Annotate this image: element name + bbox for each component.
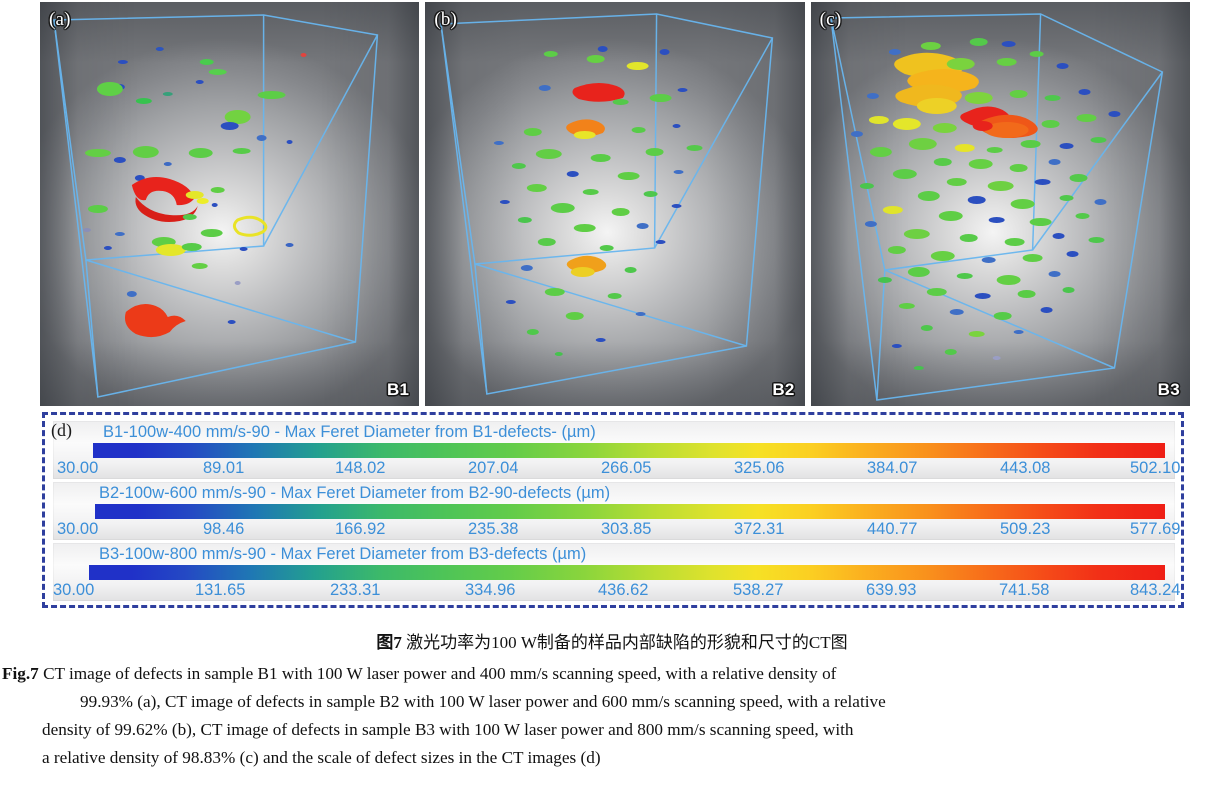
- tick-b1-1: 89.01: [203, 458, 244, 479]
- ct-panel-row: (a) B1: [40, 2, 1190, 406]
- tick-b1-8: 502.10: [1130, 458, 1180, 479]
- tick-b2-6: 440.77: [867, 519, 917, 540]
- caption-english-line-2: 99.93% (a), CT image of defects in sampl…: [2, 688, 1222, 716]
- tick-b1-5: 325.06: [734, 458, 784, 479]
- colour-scale-b2: B2-100w-600 mm/s-90 - Max Feret Diameter…: [53, 482, 1175, 540]
- tick-b3-0: 30.00: [53, 580, 94, 601]
- panel-label-c: (c): [820, 9, 842, 31]
- sample-label-b3: B3: [1158, 380, 1180, 400]
- caption-english-line-1: Fig.7 CT image of defects in sample B1 w…: [2, 660, 1222, 688]
- tick-b3-2: 233.31: [330, 580, 380, 601]
- colour-scale-b1: B1-100w-400 mm/s-90 - Max Feret Diameter…: [53, 421, 1175, 479]
- caption-english: Fig.7 CT image of defects in sample B1 w…: [2, 660, 1222, 772]
- panel-label-b: (b): [434, 9, 457, 31]
- figure-root: (a) B1: [0, 0, 1224, 790]
- tick-b3-6: 639.93: [866, 580, 916, 601]
- ct-panel-b1: (a) B1: [40, 2, 419, 406]
- tick-b3-7: 741.58: [999, 580, 1049, 601]
- colour-scale-b2-ticks: 30.00 98.46 166.92 235.38 303.85 372.31 …: [53, 519, 1175, 540]
- colour-scale-b1-title: B1-100w-400 mm/s-90 - Max Feret Diameter…: [103, 422, 596, 443]
- tick-b1-7: 443.08: [1000, 458, 1050, 479]
- colour-scale-b3-ticks: 30.00 131.65 233.31 334.96 436.62 538.27…: [53, 580, 1175, 601]
- tick-b3-8: 843.24: [1130, 580, 1180, 601]
- tick-b3-3: 334.96: [465, 580, 515, 601]
- tick-b2-7: 509.23: [1000, 519, 1050, 540]
- colour-scale-b1-ticks: 30.00 89.01 148.02 207.04 266.05 325.06 …: [53, 458, 1175, 479]
- colour-scale-legend: (d) B1-100w-400 mm/s-90 - Max Feret Diam…: [42, 412, 1184, 608]
- ct-panel-b3: (c) B3: [811, 2, 1190, 406]
- tick-b2-3: 235.38: [468, 519, 518, 540]
- ct-render-b1: [40, 2, 419, 406]
- ct-panel-b2: (b) B2: [425, 2, 804, 406]
- colour-scale-b2-bar: [95, 504, 1165, 519]
- tick-b1-2: 148.02: [335, 458, 385, 479]
- colour-scale-b3-bar: [89, 565, 1165, 580]
- panel-label-a: (a): [49, 9, 71, 31]
- caption-english-line-4: a relative density of 98.83% (c) and the…: [2, 744, 1222, 772]
- colour-scale-b1-bar: [93, 443, 1165, 458]
- tick-b1-3: 207.04: [468, 458, 518, 479]
- caption-english-label: Fig.7: [2, 664, 39, 683]
- caption-chinese-text: 激光功率为100 W制备的样品内部缺陷的形貌和尺寸的CT图: [402, 633, 848, 652]
- tick-b2-2: 166.92: [335, 519, 385, 540]
- tick-b3-4: 436.62: [598, 580, 648, 601]
- tick-b3-1: 131.65: [195, 580, 245, 601]
- caption-english-line-3: density of 99.62% (b), CT image of defec…: [2, 716, 1222, 744]
- caption-chinese-label: 图7: [376, 633, 402, 652]
- colour-scale-b3-title: B3-100w-800 mm/s-90 - Max Feret Diameter…: [99, 544, 586, 565]
- tick-b2-4: 303.85: [601, 519, 651, 540]
- tick-b1-0: 30.00: [57, 458, 98, 479]
- tick-b1-4: 266.05: [601, 458, 651, 479]
- sample-label-b1: B1: [387, 380, 409, 400]
- caption-english-line-1-text: CT image of defects in sample B1 with 10…: [39, 664, 837, 683]
- tick-b2-8: 577.69: [1130, 519, 1180, 540]
- colour-scale-b2-title: B2-100w-600 mm/s-90 - Max Feret Diameter…: [99, 483, 610, 504]
- colour-scale-b3: B3-100w-800 mm/s-90 - Max Feret Diameter…: [53, 543, 1175, 601]
- tick-b1-6: 384.07: [867, 458, 917, 479]
- tick-b2-0: 30.00: [57, 519, 98, 540]
- tick-b2-1: 98.46: [203, 519, 244, 540]
- tick-b2-5: 372.31: [734, 519, 784, 540]
- ct-render-b2: [425, 2, 804, 406]
- sample-label-b2: B2: [772, 380, 794, 400]
- ct-render-b3: [811, 2, 1190, 406]
- caption-chinese: 图7 激光功率为100 W制备的样品内部缺陷的形貌和尺寸的CT图: [0, 628, 1224, 653]
- panel-label-d: (d): [51, 420, 72, 441]
- tick-b3-5: 538.27: [733, 580, 783, 601]
